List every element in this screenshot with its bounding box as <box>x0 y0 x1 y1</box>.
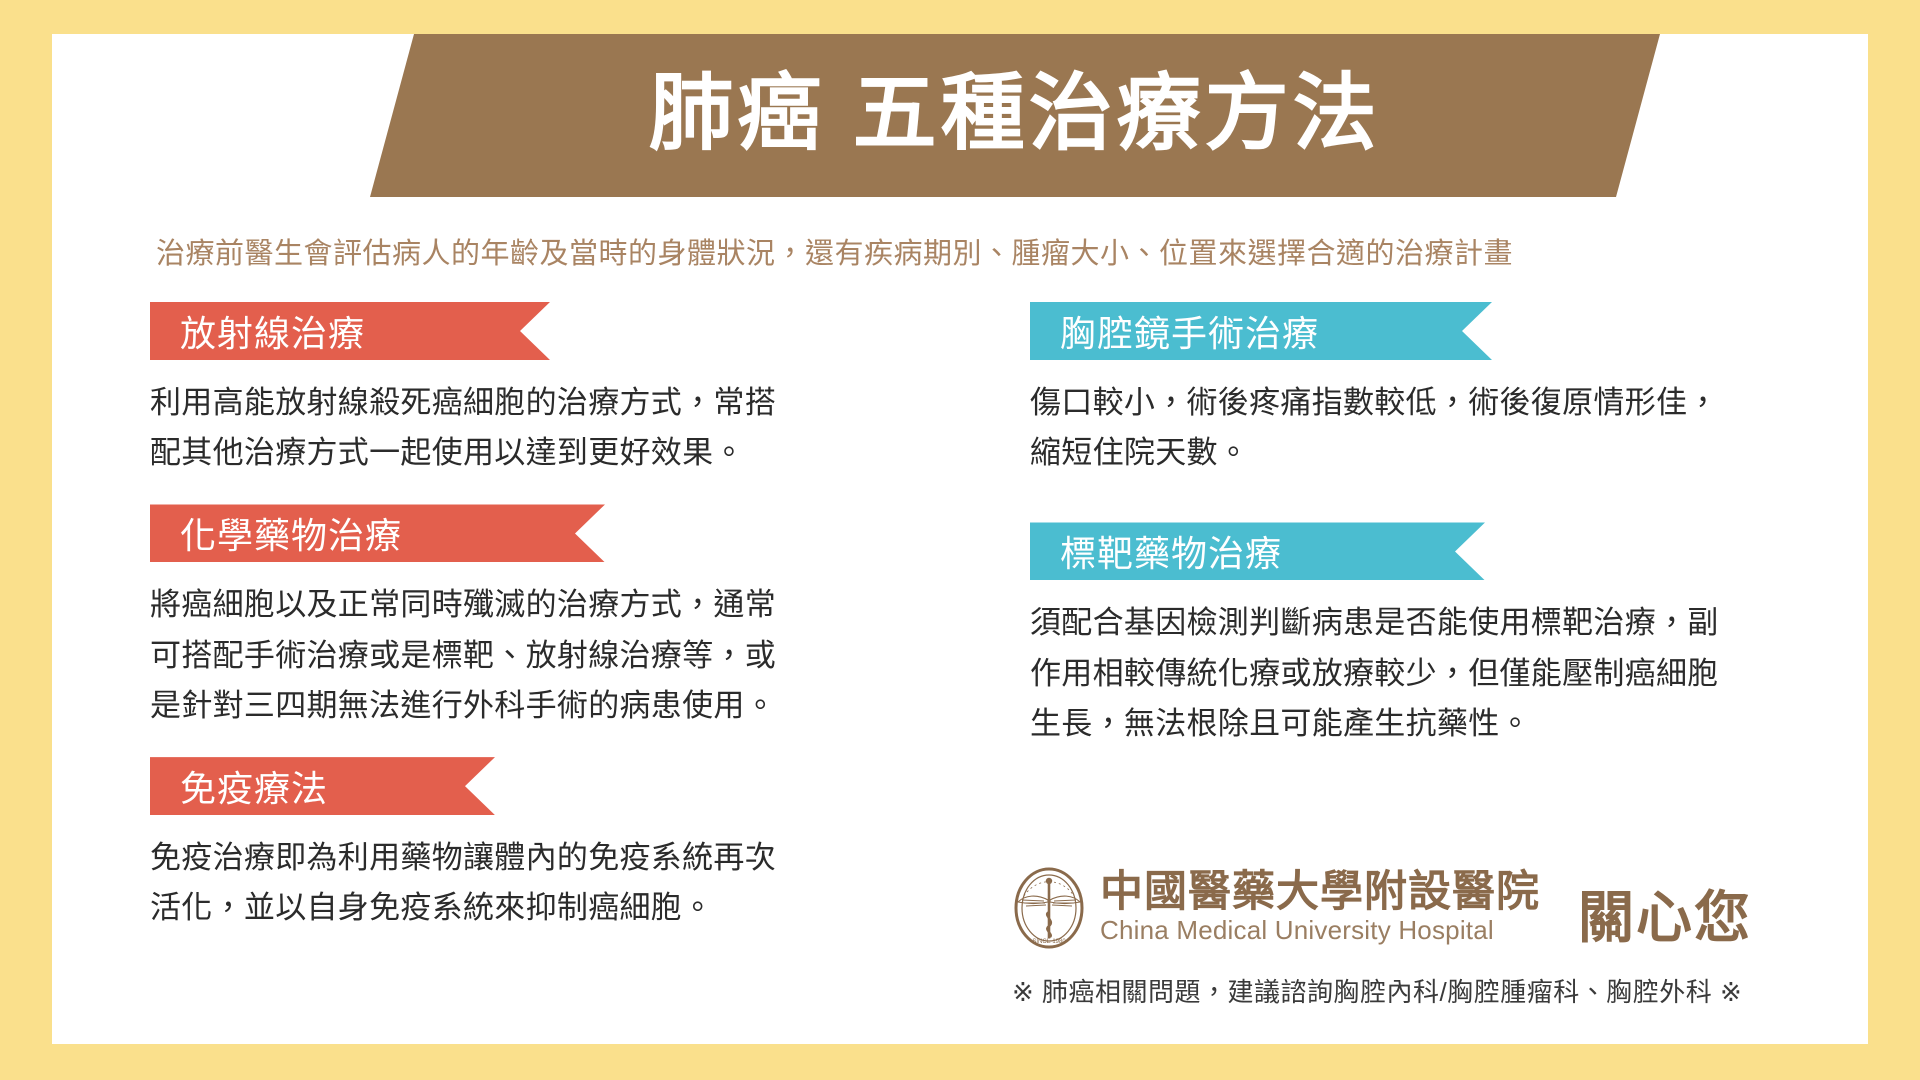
ribbon-label-radiation: 放射線治療 <box>180 305 365 357</box>
ribbon-label-thoracoscopic-surgery: 胸腔鏡手術治療 <box>1060 305 1319 357</box>
ribbon-label-immunotherapy: 免疫療法 <box>180 760 328 812</box>
caduceus-logo-icon: SINCE 1980 <box>1012 866 1086 950</box>
subtitle-text: 治療前醫生會評估病人的年齡及當時的身體狀況，還有疾病期別、腫瘤大小、位置來選擇合… <box>156 230 1876 272</box>
section-chemotherapy: 化學藥物治療 將癌細胞以及正常同時殲滅的治療方式，通常 可搭配手術治療或是標靶、… <box>150 504 950 731</box>
poster-root: 肺癌 五種治療方法 治療前醫生會評估病人的年齡及當時的身體狀況，還有疾病期別、腫… <box>0 0 1920 1080</box>
page-title: 肺癌 五種治療方法 <box>649 71 1380 161</box>
body-line: 配其他治療方式一起使用以達到更好效果。 <box>150 428 950 478</box>
right-column: 胸腔鏡手術治療 傷口較小，術後疼痛指數較低，術後復原情形佳， 縮短住院天數。 標… <box>1030 302 1890 749</box>
section-immunotherapy: 免疫療法 免疫治療即為利用藥物讓體內的免疫系統再次 活化，並以自身免疫系統來抑制… <box>150 757 950 933</box>
body-line: 生長，無法根除且可能產生抗藥性。 <box>1030 699 1890 749</box>
body-line: 須配合基因檢測判斷病患是否能使用標靶治療，副 <box>1030 598 1890 648</box>
footer: SINCE 1980 中國醫藥大學附設醫院 China Medical Univ… <box>1012 866 1892 1009</box>
body-line: 利用高能放射線殺死癌細胞的治療方式，常搭 <box>150 378 950 428</box>
body-radiation: 利用高能放射線殺死癌細胞的治療方式，常搭 配其他治療方式一起使用以達到更好效果。 <box>150 378 950 478</box>
body-immunotherapy: 免疫治療即為利用藥物讓體內的免疫系統再次 活化，並以自身免疫系統來抑制癌細胞。 <box>150 833 950 933</box>
hospital-name-block: 中國醫藥大學附設醫院 China Medical University Hosp… <box>1100 870 1540 945</box>
hospital-name-cn: 中國醫藥大學附設醫院 <box>1100 870 1540 915</box>
poster-card: 肺癌 五種治療方法 治療前醫生會評估病人的年齡及當時的身體狀況，還有疾病期別、腫… <box>52 34 1868 1044</box>
body-line: 將癌細胞以及正常同時殲滅的治療方式，通常 <box>150 580 950 630</box>
body-line: 可搭配手術治療或是標靶、放射線治療等，或 <box>150 631 950 681</box>
ribbon-targeted-therapy: 標靶藥物治療 <box>1030 522 1485 580</box>
body-line: 縮短住院天數。 <box>1030 428 1890 478</box>
ribbon-radiation: 放射線治療 <box>150 302 550 360</box>
logo-badge-text: SINCE 1980 <box>1032 939 1066 945</box>
footer-note: ※ 肺癌相關問題，建議諮詢胸腔內科/胸腔腫瘤科、胸腔外科 ※ <box>1012 972 1892 1009</box>
section-targeted-therapy: 標靶藥物治療 須配合基因檢測判斷病患是否能使用標靶治療，副 作用相較傳統化療或放… <box>1030 522 1890 749</box>
body-line: 傷口較小，術後疼痛指數較低，術後復原情形佳， <box>1030 378 1890 428</box>
section-thoracoscopic-surgery: 胸腔鏡手術治療 傷口較小，術後疼痛指數較低，術後復原情形佳， 縮短住院天數。 <box>1030 302 1890 478</box>
section-radiation: 放射線治療 利用高能放射線殺死癌細胞的治療方式，常搭 配其他治療方式一起使用以達… <box>150 302 950 478</box>
ribbon-immunotherapy: 免疫療法 <box>150 757 495 815</box>
left-column: 放射線治療 利用高能放射線殺死癌細胞的治療方式，常搭 配其他治療方式一起使用以達… <box>150 302 950 934</box>
body-line: 活化，並以自身免疫系統來抑制癌細胞。 <box>150 883 950 933</box>
ribbon-thoracoscopic-surgery: 胸腔鏡手術治療 <box>1030 302 1492 360</box>
body-line: 是針對三四期無法進行外科手術的病患使用。 <box>150 681 950 731</box>
body-line: 免疫治療即為利用藥物讓體內的免疫系統再次 <box>150 833 950 883</box>
care-slogan: 關心您 <box>1578 890 1752 950</box>
ribbon-label-targeted-therapy: 標靶藥物治療 <box>1060 525 1282 577</box>
hospital-name-en: China Medical University Hospital <box>1100 916 1540 946</box>
body-chemotherapy: 將癌細胞以及正常同時殲滅的治療方式，通常 可搭配手術治療或是標靶、放射線治療等，… <box>150 580 950 731</box>
body-targeted-therapy: 須配合基因檢測判斷病患是否能使用標靶治療，副 作用相較傳統化療或放療較少，但僅能… <box>1030 598 1890 749</box>
hospital-logo-row: SINCE 1980 中國醫藥大學附設醫院 China Medical Univ… <box>1012 866 1892 950</box>
ribbon-chemotherapy: 化學藥物治療 <box>150 504 605 562</box>
ribbon-label-chemotherapy: 化學藥物治療 <box>180 507 402 559</box>
title-banner: 肺癌 五種治療方法 <box>370 34 1660 197</box>
body-thoracoscopic-surgery: 傷口較小，術後疼痛指數較低，術後復原情形佳， 縮短住院天數。 <box>1030 378 1890 478</box>
body-line: 作用相較傳統化療或放療較少，但僅能壓制癌細胞 <box>1030 649 1890 699</box>
